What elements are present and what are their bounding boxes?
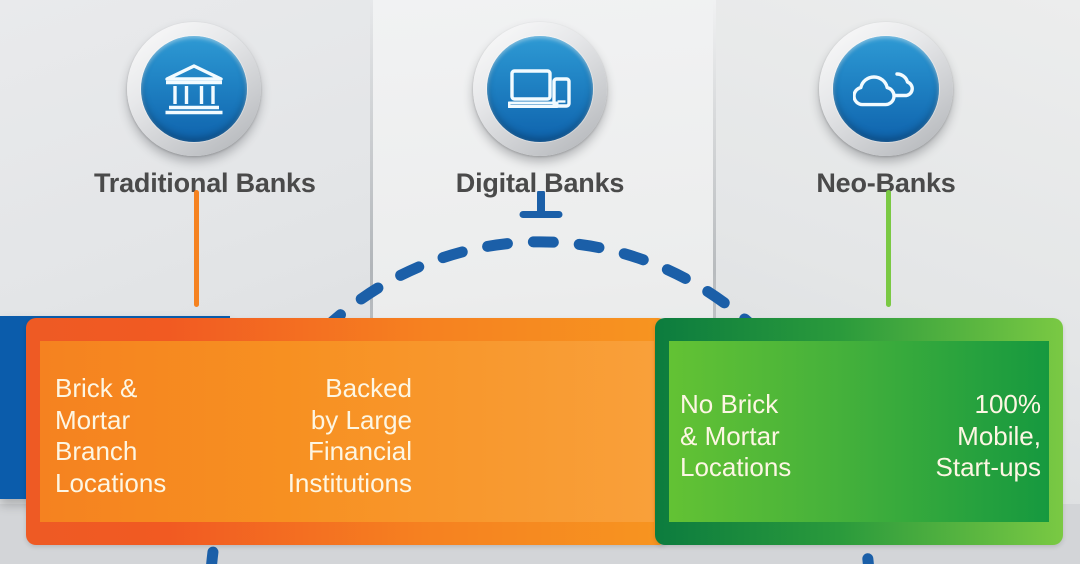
connector-line-neo	[886, 190, 891, 307]
connector-line-traditional	[194, 190, 199, 307]
badge-traditional	[127, 22, 261, 156]
node-row: Traditional Banks Digital Banks	[0, 0, 1080, 320]
badge-inner-digital	[487, 36, 593, 142]
infographic-canvas: Traditional Banks Digital Banks	[0, 0, 1080, 564]
attribute-bars: OnlineBanking,Mobile Apps Brick &MortarB…	[0, 316, 1080, 548]
badge-inner-neo	[833, 36, 939, 142]
bar-neo-right-text: 100%Mobile,Start-ups	[876, 389, 1041, 484]
laptop-and-phone-icon	[508, 63, 572, 115]
bar-neo-left-text: No Brick& MortarLocations	[680, 389, 791, 484]
bank-building-icon	[163, 61, 225, 117]
badge-digital	[473, 22, 607, 156]
node-traditional-banks[interactable]: Traditional Banks	[94, 22, 294, 199]
node-digital-banks[interactable]: Digital Banks	[440, 22, 640, 199]
bar-traditional-right-text: Backedby LargeFinancialInstitutions	[232, 373, 412, 500]
connector-line-digital	[518, 191, 564, 219]
clouds-icon	[853, 66, 919, 112]
badge-neo	[819, 22, 953, 156]
node-neo-banks[interactable]: Neo-Banks	[786, 22, 986, 199]
badge-inner-traditional	[141, 36, 247, 142]
bar-traditional-left-text: Brick &MortarBranchLocations	[55, 373, 166, 500]
